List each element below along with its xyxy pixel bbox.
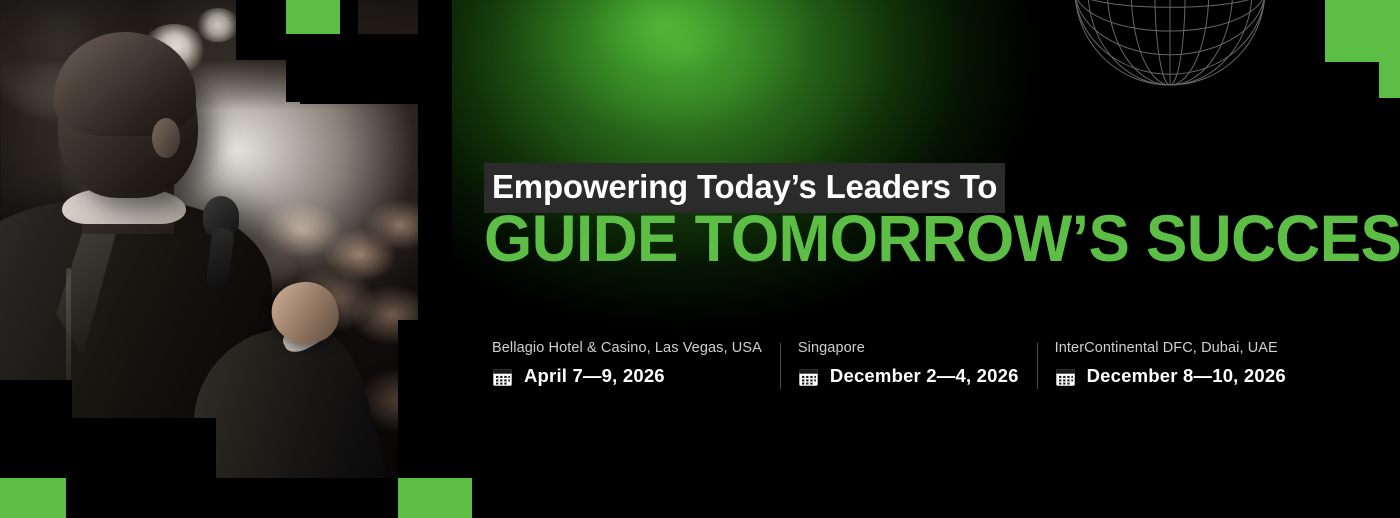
- conference-banner: Empowering Today’s Leaders To GUIDE TOMO…: [0, 0, 1400, 518]
- green-accent-square: [286, 0, 340, 34]
- mask-block: [418, 0, 452, 320]
- event-item: InterContinental DFC, Dubai, UAE: [1037, 340, 1304, 387]
- event-date: December 8—10, 2026: [1087, 365, 1286, 387]
- speaker-hair: [54, 32, 196, 136]
- event-date-row: December 2—4, 2026: [798, 365, 1019, 387]
- event-date-row: December 8—10, 2026: [1055, 365, 1286, 387]
- banner-content: Empowering Today’s Leaders To GUIDE TOMO…: [484, 0, 1344, 518]
- calendar-icon: [1055, 366, 1076, 387]
- banner-headline: GUIDE TOMORROW’S SUCCESS: [484, 205, 1400, 274]
- event-date: April 7—9, 2026: [524, 365, 665, 387]
- event-item: Singapore: [780, 340, 1037, 387]
- event-date: December 2—4, 2026: [830, 365, 1019, 387]
- event-date-row: April 7—9, 2026: [492, 365, 762, 387]
- event-venue: Bellagio Hotel & Casino, Las Vegas, USA: [492, 340, 762, 356]
- events-list: Bellagio Hotel & Casino, Las Vegas, USA: [492, 340, 1304, 387]
- mask-block: [300, 92, 418, 104]
- green-accent-square: [1379, 62, 1400, 98]
- event-venue: Singapore: [798, 340, 1019, 356]
- speaker-photo: [0, 0, 452, 518]
- event-item: Bellagio Hotel & Casino, Las Vegas, USA: [492, 340, 780, 387]
- calendar-icon: [798, 366, 819, 387]
- speaker-ear: [152, 118, 180, 158]
- event-venue: InterContinental DFC, Dubai, UAE: [1055, 340, 1286, 356]
- mask-block: [62, 478, 402, 518]
- calendar-icon: [492, 366, 513, 387]
- green-accent-square: [398, 478, 472, 518]
- green-accent-square: [0, 478, 66, 518]
